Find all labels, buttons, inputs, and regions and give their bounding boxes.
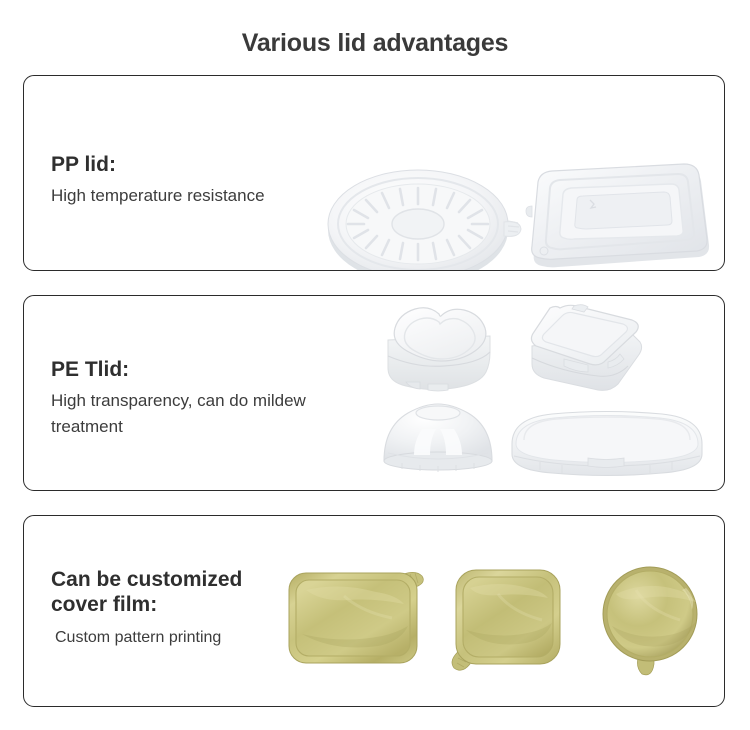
panel-pp-description: High temperature resistance: [51, 183, 265, 209]
panel-pp-lid: PP lid: High temperature resistance: [23, 75, 725, 271]
gold-foil-round-lid-image: [586, 564, 714, 678]
gold-foil-rectangle-lid-image: [284, 564, 429, 669]
oval-pet-lid-image: [502, 406, 712, 478]
panel-film-heading: Can be customized cover film:: [51, 568, 242, 618]
heart-shaped-pet-lid-image: [376, 306, 511, 398]
rectangular-pp-lid-image: [518, 154, 718, 271]
panel-cover-film: Can be customized cover film: Custom pat…: [23, 515, 725, 707]
panel-film-text-block: Can be customized cover film: Custom pat…: [51, 568, 242, 651]
panel-pe-lid: PE Tlid: High transparency, can do milde…: [23, 295, 725, 491]
square-pet-lid-image: [522, 302, 650, 398]
dome-cup-lid-image: [376, 399, 500, 475]
panel-pe-text-block: PE Tlid: High transparency, can do milde…: [51, 358, 341, 440]
panel-pp-heading: PP lid:: [51, 153, 265, 178]
round-pp-lid-image: [324, 160, 524, 271]
page-title: Various lid advantages: [0, 17, 750, 58]
gold-foil-square-lid-image: [442, 564, 574, 676]
panel-pp-text-block: PP lid: High temperature resistance: [51, 153, 265, 209]
panel-pe-description: High transparency, can do mildew treatme…: [51, 388, 341, 441]
panel-film-description: Custom pattern printing: [51, 626, 242, 651]
panel-pe-heading: PE Tlid:: [51, 358, 341, 383]
